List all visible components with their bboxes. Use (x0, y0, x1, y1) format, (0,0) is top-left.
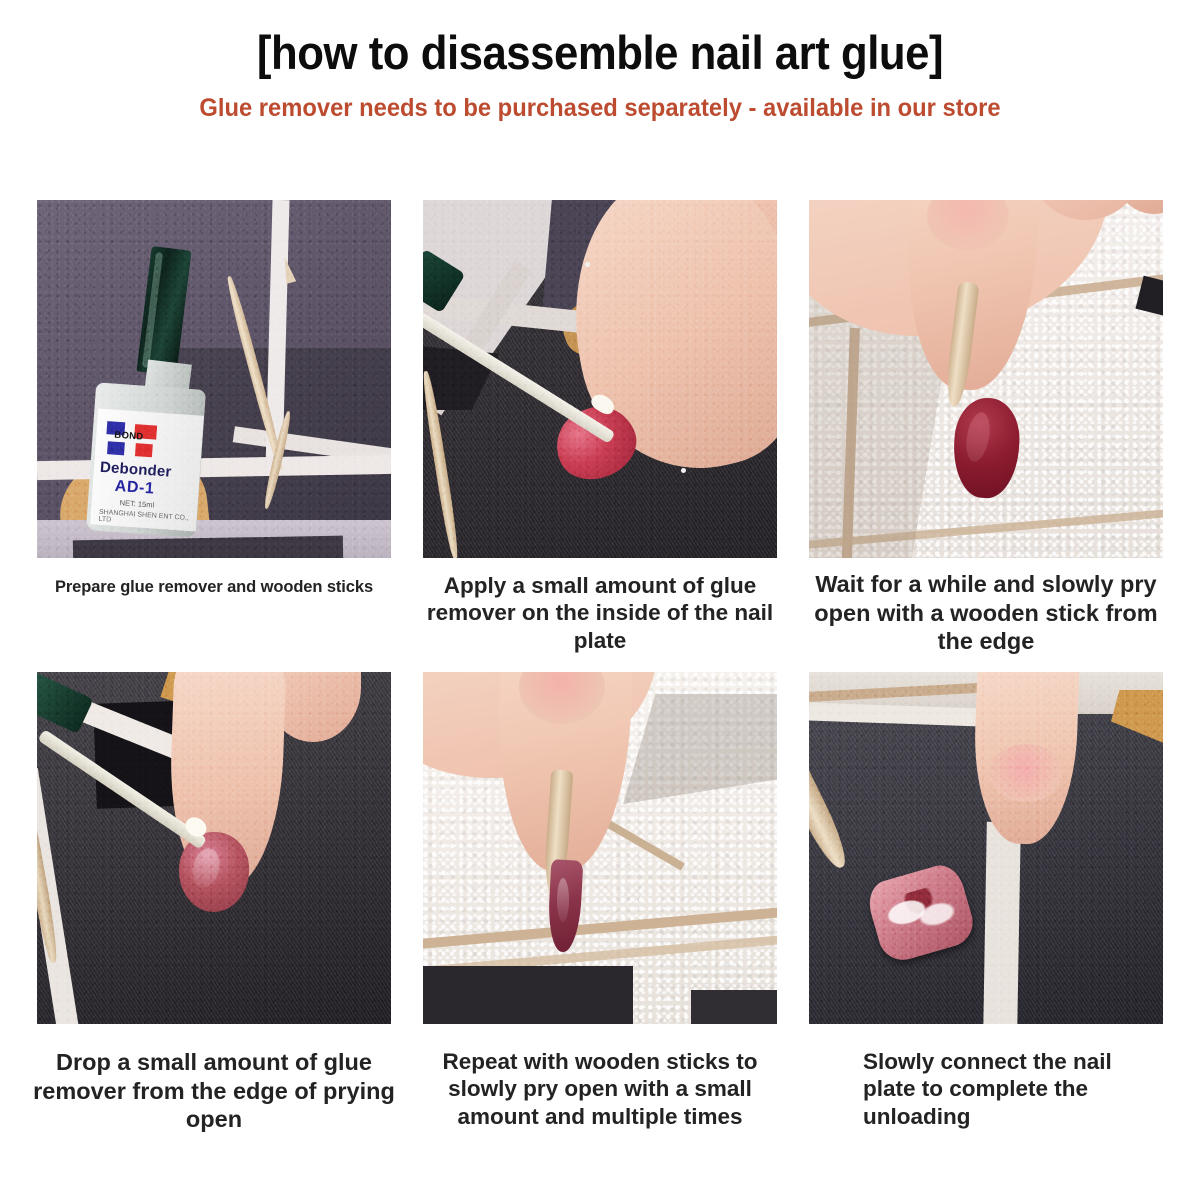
step-card-1: BOND Debonder AD-1 NET: 15ml SHANGHAI SH… (37, 200, 391, 656)
step-caption-6: Slowly connect the nail plate to complet… (809, 1024, 1163, 1130)
step-caption-2: Apply a small amount of glue remover on … (423, 558, 777, 654)
step-photo-4 (37, 672, 391, 1024)
step-photo-1: BOND Debonder AD-1 NET: 15ml SHANGHAI SH… (37, 200, 391, 558)
step-card-3: Wait for a while and slowly pry open wit… (809, 200, 1163, 656)
step-caption-3: Wait for a while and slowly pry open wit… (805, 558, 1167, 656)
step-photo-5 (423, 672, 777, 1024)
step-photo-2 (423, 200, 777, 558)
step-card-2: Apply a small amount of glue remover on … (423, 200, 777, 656)
step-caption-1: Prepare glue remover and wooden sticks (37, 558, 391, 597)
page-subtitle: Glue remover needs to be purchased separ… (30, 94, 1170, 123)
step-caption-4: Drop a small amount of glue remover from… (31, 1024, 397, 1134)
instruction-infographic: [how to disassemble nail art glue] Glue … (0, 0, 1200, 1200)
step-card-5: Repeat with wooden sticks to slowly pry … (423, 672, 777, 1134)
steps-row-top: BOND Debonder AD-1 NET: 15ml SHANGHAI SH… (37, 200, 1163, 656)
steps-row-bottom: Drop a small amount of glue remover from… (37, 672, 1163, 1134)
step-caption-5: Repeat with wooden sticks to slowly pry … (423, 1024, 777, 1130)
step-photo-6 (809, 672, 1163, 1024)
step-photo-3 (809, 200, 1163, 558)
page-title: [how to disassemble nail art glue] (42, 28, 1158, 77)
step-card-6: Slowly connect the nail plate to complet… (809, 672, 1163, 1134)
header: [how to disassemble nail art glue] Glue … (0, 0, 1200, 123)
step-card-4: Drop a small amount of glue remover from… (37, 672, 391, 1134)
